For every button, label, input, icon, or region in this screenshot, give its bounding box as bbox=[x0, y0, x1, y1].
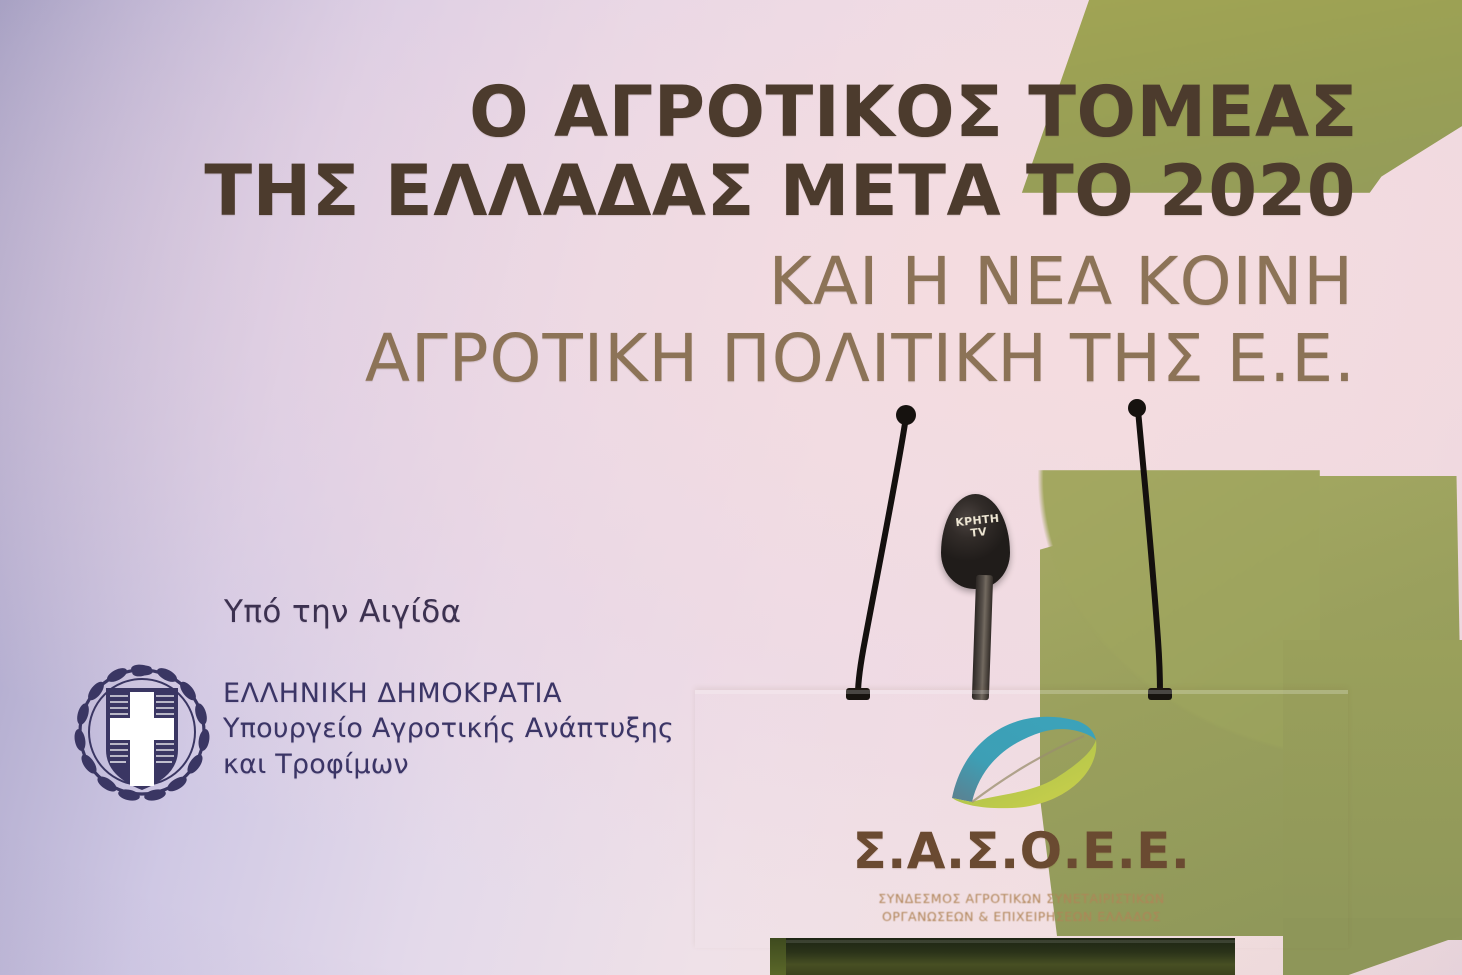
podium-base-shadow bbox=[770, 938, 1235, 975]
organization-full-line-1: ΣΥΝΔΕΣΜΟΣ ΑΓΡΟΤΙΚΩΝ ΣΥΝΕΤΑΙΡΙΣΤΙΚΩΝ bbox=[695, 890, 1348, 908]
podium-branding: Σ.Α.Σ.Ο.Ε.Ε. ΣΥΝΔΕΣΜΟΣ ΑΓΡΟΤΙΚΩΝ ΣΥΝΕΤΑΙ… bbox=[695, 694, 1348, 944]
ministry-line-1: ΕΛΛΗΝΙΚΗ ΔΗΜΟΚΡΑΤΙΑ bbox=[223, 676, 743, 711]
greek-coat-of-arms-icon bbox=[62, 658, 222, 810]
title-line-4: ΑΓΡΟΤΙΚΗ ΠΟΛΙΤΙΚΗ ΤΗΣ Ε.Ε. bbox=[0, 326, 1380, 391]
microphone-brand-label: ΚΡΗΤΗ TV bbox=[954, 513, 1002, 541]
aegis-label: Υπό την Αιγίδα bbox=[224, 594, 461, 630]
organization-full-name: ΣΥΝΔΕΣΜΟΣ ΑΓΡΟΤΙΚΩΝ ΣΥΝΕΤΑΙΡΙΣΤΙΚΩΝ ΟΡΓΑ… bbox=[695, 890, 1348, 926]
title-line-3: ΚΑΙ Η ΝΕΑ ΚΟΙΝΗ bbox=[0, 249, 1380, 314]
title-line-1: Ο ΑΓΡΟΤΙΚΟΣ ΤΟΜΕΑΣ bbox=[0, 78, 1380, 147]
organization-acronym: Σ.Α.Σ.Ο.Ε.Ε. bbox=[695, 822, 1348, 880]
title-line-2: ΤΗΣ ΕΛΛΑΔΑΣ ΜΕΤΑ ΤΟ 2020 bbox=[0, 157, 1380, 226]
ministry-line-2: Υπουργείο Αγροτικής Ανάπτυξης bbox=[223, 711, 743, 746]
ministry-line-3: και Τροφίμων bbox=[223, 747, 743, 782]
organization-full-line-2: ΟΡΓΑΝΩΣΕΩΝ & ΕΠΙΧΕΙΡΗΣΕΩΝ ΕΛΛΑΔΟΣ bbox=[695, 908, 1348, 926]
ministry-text: ΕΛΛΗΝΙΚΗ ΔΗΜΟΚΡΑΤΙΑ Υπουργείο Αγροτικής … bbox=[223, 676, 743, 782]
conference-stage-photo: Ο ΑΓΡΟΤΙΚΟΣ ΤΟΜΕΑΣ ΤΗΣ ΕΛΛΑΔΑΣ ΜΕΤΑ ΤΟ 2… bbox=[0, 0, 1462, 975]
event-title: Ο ΑΓΡΟΤΙΚΟΣ ΤΟΜΕΑΣ ΤΗΣ ΕΛΛΑΔΑΣ ΜΕΤΑ ΤΟ 2… bbox=[0, 78, 1380, 391]
sasoee-leaf-swoosh-logo-icon bbox=[934, 702, 1104, 822]
podium-base-highlight bbox=[770, 940, 1235, 943]
podium-base-left-edge bbox=[770, 938, 786, 975]
